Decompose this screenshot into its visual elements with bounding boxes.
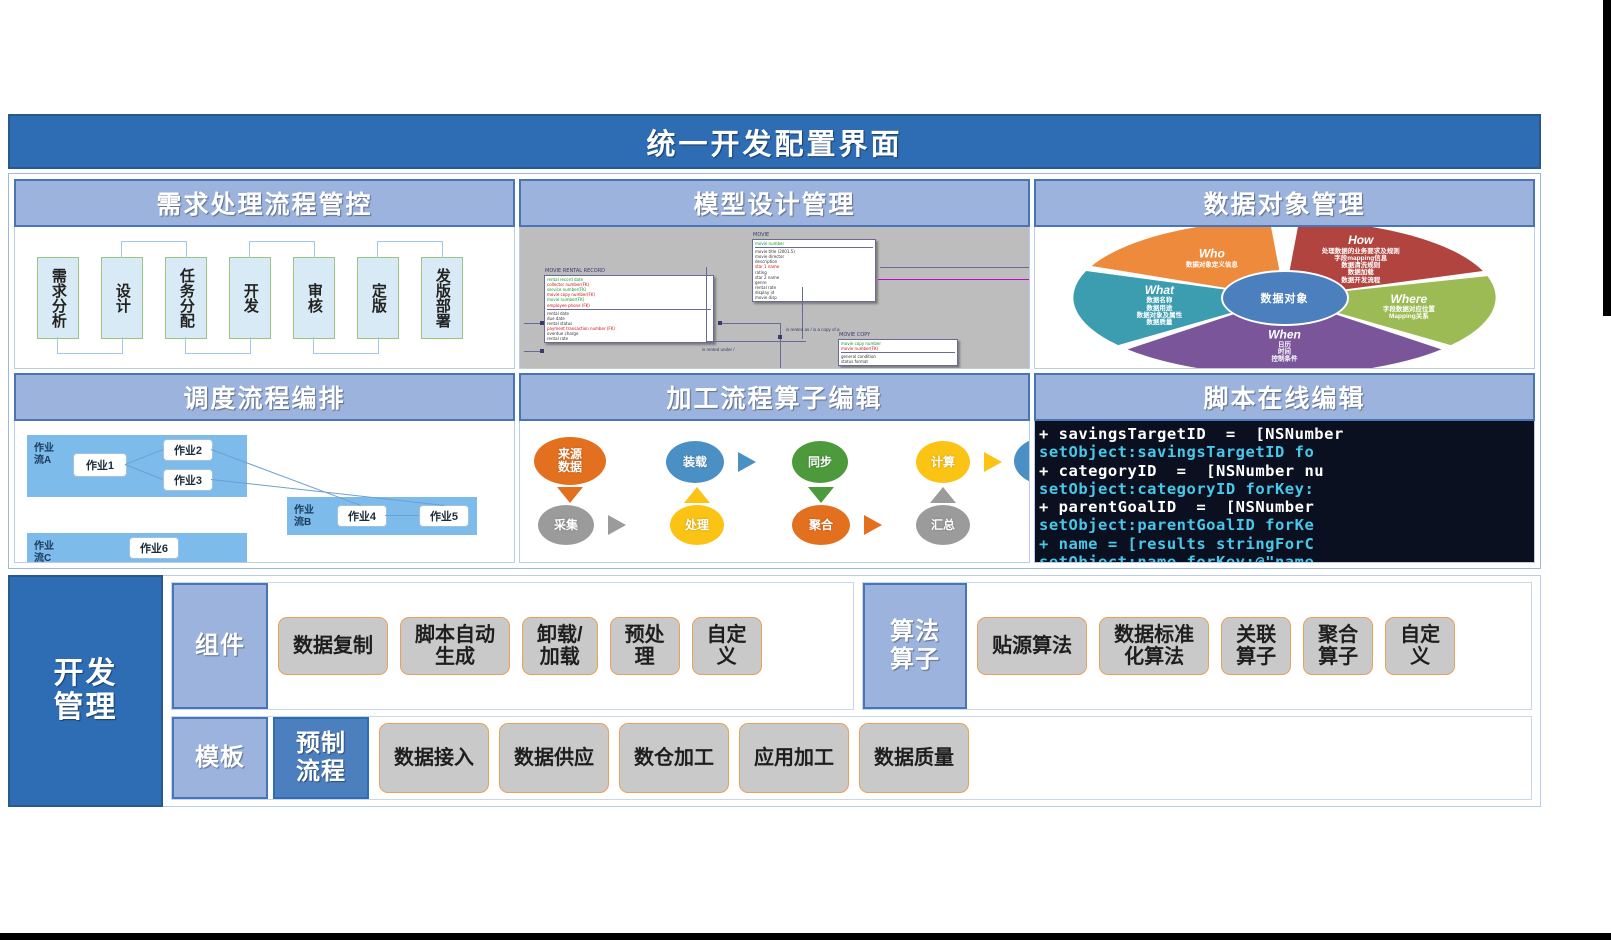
feature-chip-label: 义 [717, 646, 737, 668]
operator-arrow-icon [608, 515, 626, 535]
job-node[interactable]: 作业5 [419, 505, 469, 527]
operator-node[interactable]: 采集 [538, 505, 594, 545]
feature-chip-label: 算子 [1318, 646, 1358, 668]
er-key-field: employee phone (FK) [547, 303, 711, 308]
requirement-step-label: 审核 [306, 283, 322, 313]
group-chips-algorithm: 贴源算法数据标准化算法关联算子聚合算子自定义 [967, 583, 1531, 709]
operator-node[interactable]: 结果数据 [1014, 437, 1030, 485]
feature-chip-label: 脚本自动 [415, 624, 495, 646]
feature-chip-label: 数据接入 [394, 747, 474, 769]
panel-body-model: MOVIE RENTAL RECORDrental record datecol… [519, 227, 1030, 369]
operator-node[interactable]: 来源数据 [534, 437, 606, 485]
requirement-connector [377, 241, 443, 258]
operator-arrow-icon [808, 487, 834, 503]
feature-chip-label: 算子 [1236, 646, 1276, 668]
group-title-components: 组件 [172, 583, 268, 709]
er-relationship-line [780, 323, 781, 369]
operator-flow: 来源数据装载同步计算结果数据采集处理聚合汇总 [520, 421, 1029, 562]
er-connector-dot [718, 321, 722, 325]
panel-body-script: + savingsTargetID = [NSNumbersetObject:s… [1034, 421, 1535, 563]
er-entity[interactable]: MOVIEmovie numbermovie title (2001.5)mov… [752, 239, 876, 302]
feature-chip-label: 卸载/ [537, 624, 583, 646]
group-chips-preset-flow: 数据接入数据供应数仓加工应用加工数据质量 [369, 717, 1531, 799]
panel-grid: 需求处理流程管控 需求分析设计任务分配开发审核定版发版部署 模型设计管理 MOV… [8, 173, 1541, 569]
feature-chip-label: 生成 [435, 646, 475, 668]
er-key-field: movie number [755, 241, 873, 246]
feature-chip-label: 数据复制 [293, 635, 373, 657]
feature-chip-label: 应用加工 [754, 747, 834, 769]
group-subtitle-preset-flow[interactable]: 预制流程 [273, 717, 369, 799]
swimlane-label: 作业流A [34, 443, 54, 466]
requirement-step-label: 定版 [370, 283, 386, 313]
job-node[interactable]: 作业4 [337, 505, 387, 527]
code-line: setObject:savingsTargetID fo [1039, 443, 1534, 461]
panel-header-requirement: 需求处理流程管控 [14, 179, 515, 227]
operator-arrow-icon [738, 452, 756, 472]
feature-chip-label: 化算法 [1124, 646, 1184, 668]
er-field: movie disp [755, 295, 873, 300]
feature-chip-label: 理 [635, 646, 655, 668]
feature-chip-label: 数仓加工 [634, 747, 714, 769]
group-template[interactable]: 模板 预制流程 数据接入数据供应数仓加工应用加工数据质量 [171, 716, 1532, 800]
requirement-step[interactable]: 设计 [101, 257, 143, 339]
schedule-flow: 作业流A作业流B作业流C作业1作业2作业3作业4作业5作业6 [15, 421, 514, 562]
operator-node-label: 采集 [554, 519, 578, 532]
dev-management-section: 开发管理 组件 数据复制脚本自动生成卸载/加载预处理自定义 算法算子 贴源算法数… [8, 575, 1541, 807]
operator-node-label: 计算 [931, 456, 955, 469]
feature-chip[interactable]: 聚合算子 [1303, 617, 1373, 675]
operator-node-label: 装载 [683, 456, 707, 469]
dataobject-donut-chart: How处理数据的业务要求及规则字段mapping信息数据清洗规则数据加载数据开发… [1035, 227, 1534, 368]
requirement-connector [121, 241, 187, 258]
feature-chip-label: 数据质量 [874, 747, 954, 769]
er-connector-dot [778, 335, 782, 339]
panel-header-dataobject: 数据对象管理 [1034, 179, 1535, 227]
er-entity-name: MOVIE RENTAL RECORD [545, 268, 605, 274]
workflow-swimlane[interactable]: 作业流A [27, 435, 247, 497]
panel-body-schedule: 作业流A作业流B作业流C作业1作业2作业3作业4作业5作业6 [14, 421, 515, 563]
operator-arrow-icon [930, 487, 956, 503]
code-editor[interactable]: + savingsTargetID = [NSNumbersetObject:s… [1035, 421, 1534, 562]
panel-row-1: 需求处理流程管控 需求分析设计任务分配开发审核定版发版部署 模型设计管理 MOV… [14, 179, 1535, 369]
job-node[interactable]: 作业1 [73, 453, 127, 477]
er-relationship-line [706, 267, 707, 341]
panel-header-schedule: 调度流程编排 [14, 373, 515, 421]
er-relationship-line [706, 341, 806, 342]
feature-chip[interactable]: 脚本自动生成 [400, 617, 510, 675]
requirement-connector [185, 337, 251, 354]
panel-script[interactable]: 脚本在线编辑 + savingsTargetID = [NSNumbersetO… [1034, 373, 1535, 563]
er-connector-dot [540, 321, 544, 325]
feature-chip[interactable]: 数据供应 [499, 723, 609, 793]
operator-node[interactable]: 处理 [670, 505, 724, 545]
group-components[interactable]: 组件 数据复制脚本自动生成卸载/加载预处理自定义 [171, 582, 854, 710]
job-node[interactable]: 作业2 [163, 439, 213, 461]
job-node[interactable]: 作业3 [163, 469, 213, 491]
feature-chip[interactable]: 自定义 [1385, 617, 1455, 675]
er-field: status format [841, 359, 955, 364]
er-relationship-line [720, 323, 780, 324]
requirement-connector [57, 337, 123, 354]
operator-node-label: 聚合 [809, 519, 833, 532]
feature-chip[interactable]: 数据接入 [379, 723, 489, 793]
diagram-board: 统一开发配置界面 需求处理流程管控 需求分析设计任务分配开发审核定版发版部署 模… [8, 114, 1541, 822]
er-field: rental rate [547, 336, 711, 341]
feature-chip-label: 自定 [707, 624, 747, 646]
operator-arrow-icon [984, 452, 1002, 472]
main-title: 统一开发配置界面 [8, 114, 1541, 169]
feature-chip-label: 加载 [540, 646, 580, 668]
feature-chip[interactable]: 数据标准化算法 [1099, 617, 1209, 675]
operator-node-label: 同步 [808, 456, 832, 469]
group-algorithm[interactable]: 算法算子 贴源算法数据标准化算法关联算子聚合算子自定义 [862, 582, 1532, 710]
code-line: + parentGoalID = [NSNumber [1039, 498, 1534, 516]
swimlane-label: 作业流B [294, 505, 314, 528]
er-connector-dot [540, 349, 544, 353]
feature-chip[interactable]: 数仓加工 [619, 723, 729, 793]
bottom-edge-bar [0, 933, 1611, 940]
panel-body-requirement: 需求分析设计任务分配开发审核定版发版部署 [14, 227, 515, 369]
panel-body-operators: 来源数据装载同步计算结果数据采集处理聚合汇总 [519, 421, 1030, 563]
operator-arrow-icon [557, 487, 583, 503]
dev-row-components: 组件 数据复制脚本自动生成卸载/加载预处理自定义 算法算子 贴源算法数据标准化算… [171, 582, 1532, 710]
operator-node-label: 汇总 [931, 519, 955, 532]
feature-chip-label: 关联 [1236, 624, 1276, 646]
er-entity[interactable]: MOVIE RENTAL RECORDrental record datecol… [544, 275, 714, 343]
group-chips-components: 数据复制脚本自动生成卸载/加载预处理自定义 [268, 583, 853, 709]
panel-row-2: 调度流程编排 作业流A作业流B作业流C作业1作业2作业3作业4作业5作业6 加工… [14, 373, 1535, 563]
code-line: setObject:categoryID forKey: [1039, 480, 1534, 498]
feature-chip-label: 义 [1410, 646, 1430, 668]
feature-chip[interactable]: 预处理 [610, 617, 680, 675]
requirement-step-label: 发版部署 [434, 268, 450, 328]
panel-header-script: 脚本在线编辑 [1034, 373, 1535, 421]
requirement-step-label: 设计 [114, 283, 130, 313]
operator-node-label: 处理 [685, 519, 709, 532]
requirement-connector [249, 241, 315, 258]
operator-node[interactable]: 同步 [792, 441, 848, 483]
code-line: + categoryID = [NSNumber nu [1039, 462, 1534, 480]
feature-chip[interactable]: 贴源算法 [977, 617, 1087, 675]
requirement-step-label: 需求分析 [50, 268, 66, 328]
feature-chip[interactable]: 卸载/加载 [522, 617, 598, 675]
requirement-step[interactable]: 发版部署 [421, 257, 463, 339]
er-highlight-line [878, 279, 1030, 280]
group-title-algorithm: 算法算子 [863, 583, 967, 709]
code-line: + savingsTargetID = [NSNumber [1039, 425, 1534, 443]
er-entity-name: MOVIE [753, 232, 769, 238]
feature-chip[interactable]: 关联算子 [1221, 617, 1291, 675]
requirement-step[interactable]: 任务分配 [165, 257, 207, 339]
code-line: setObject:parentGoalID forKe [1039, 516, 1534, 534]
code-line: + name = [results stringForC [1039, 535, 1534, 553]
er-key-field: movie number(FK) [841, 346, 955, 351]
feature-chip[interactable]: 数据复制 [278, 617, 388, 675]
group-title-template: 模板 [172, 717, 268, 799]
requirement-flow: 需求分析设计任务分配开发审核定版发版部署 [15, 227, 514, 368]
dev-row-template: 模板 预制流程 数据接入数据供应数仓加工应用加工数据质量 [171, 716, 1532, 800]
panel-body-dataobject: How处理数据的业务要求及规则字段mapping信息数据清洗规则数据加载数据开发… [1034, 227, 1535, 369]
operator-node[interactable]: 汇总 [916, 505, 970, 545]
right-edge-bar [1603, 0, 1611, 316]
panel-dataobject[interactable]: 数据对象管理 How处理数据的业务要求及规则字段mapping信息数据清洗规则数… [1034, 179, 1535, 369]
er-diagram: MOVIE RENTAL RECORDrental record datecol… [520, 227, 1029, 368]
requirement-step[interactable]: 需求分析 [37, 257, 79, 339]
feature-chip-label: 数据标准 [1114, 624, 1194, 646]
panel-schedule[interactable]: 调度流程编排 作业流A作业流B作业流C作业1作业2作业3作业4作业5作业6 [14, 373, 515, 563]
er-relationship-label: is rented as / is a copy of a [786, 327, 840, 333]
operator-node[interactable]: 计算 [916, 441, 970, 483]
operator-arrow-icon [684, 487, 710, 503]
operator-node[interactable]: 聚合 [792, 505, 850, 545]
er-entity-name: MOVIE COPY [839, 332, 870, 338]
swimlane-label: 作业流C [34, 541, 54, 563]
panel-operators[interactable]: 加工流程算子编辑 来源数据装载同步计算结果数据采集处理聚合汇总 [519, 373, 1030, 563]
requirement-step-label: 开发 [242, 283, 258, 313]
dev-management-body: 组件 数据复制脚本自动生成卸载/加载预处理自定义 算法算子 贴源算法数据标准化算… [163, 575, 1541, 807]
feature-chip-label: 数据供应 [514, 747, 594, 769]
code-line: setObject:name forKey:@"name [1039, 553, 1534, 562]
feature-chip-label: 自定 [1400, 624, 1440, 646]
requirement-step[interactable]: 开发 [229, 257, 271, 339]
dev-management-title: 开发管理 [8, 575, 163, 807]
feature-chip-label: 预处 [625, 624, 665, 646]
job-node[interactable]: 作业6 [129, 537, 179, 559]
panel-header-model: 模型设计管理 [519, 179, 1030, 227]
job-edge [385, 515, 419, 516]
er-entity[interactable]: MOVIE COPYmovie copy numbermovie number(… [838, 339, 958, 366]
er-relationship-label: is rented under / [702, 347, 735, 353]
requirement-connector [313, 337, 379, 354]
panel-model[interactable]: 模型设计管理 MOVIE RENTAL RECORDrental record … [519, 179, 1030, 369]
feature-chip[interactable]: 自定义 [692, 617, 762, 675]
feature-chip[interactable]: 数据质量 [859, 723, 969, 793]
operator-arrow-icon [864, 515, 882, 535]
requirement-step[interactable]: 定版 [357, 257, 399, 339]
panel-requirement[interactable]: 需求处理流程管控 需求分析设计任务分配开发审核定版发版部署 [14, 179, 515, 369]
er-relationship-line [880, 267, 1030, 268]
operator-node[interactable]: 装载 [666, 441, 724, 483]
feature-chip-label: 贴源算法 [992, 635, 1072, 657]
operator-node-label: 数据 [558, 461, 582, 474]
requirement-step[interactable]: 审核 [293, 257, 335, 339]
panel-header-operators: 加工流程算子编辑 [519, 373, 1030, 421]
feature-chip-label: 聚合 [1318, 624, 1358, 646]
requirement-step-label: 任务分配 [178, 268, 194, 328]
donut-hub: 数据对象 [1221, 270, 1349, 326]
feature-chip[interactable]: 应用加工 [739, 723, 849, 793]
